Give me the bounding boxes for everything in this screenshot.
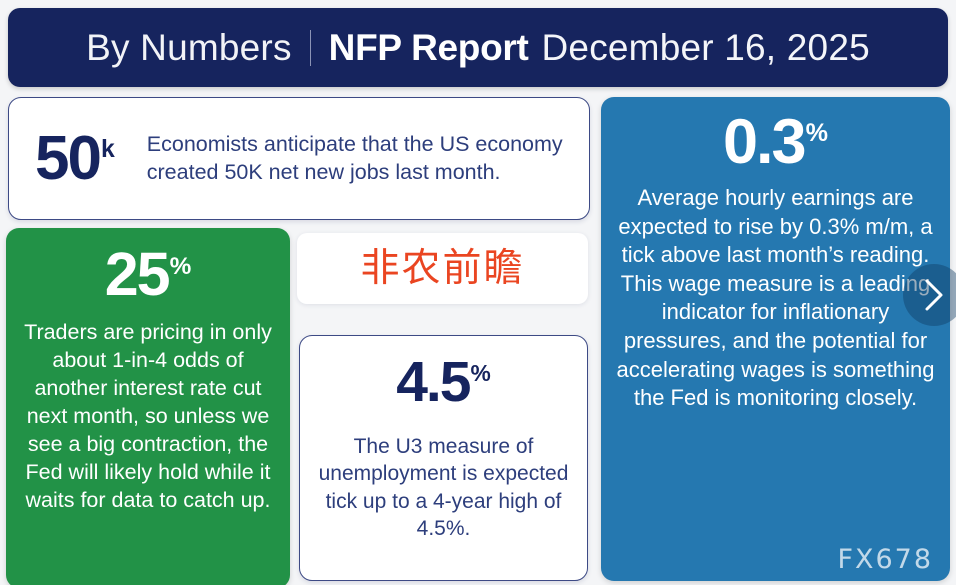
header-report-name: NFP Report (329, 27, 529, 69)
stat-card-earnings: 0.3% Average hourly earnings are expecte… (601, 97, 950, 581)
chevron-right-icon (921, 278, 947, 312)
watermark-logo: FX678 (837, 544, 933, 575)
stat-card-rate-cut-odds: 25% Traders are pricing in only about 1-… (6, 228, 290, 585)
header-banner: By Numbers NFP Report December 16, 2025 (8, 8, 948, 87)
headline-chinese-text: 非农前瞻 (360, 249, 524, 288)
stat-card-jobs: 50k Economists anticipate that the US ec… (8, 97, 590, 220)
stat-unit-earnings: % (806, 119, 828, 147)
header-divider (310, 30, 311, 66)
stat-value-jobs: 50k (35, 128, 115, 190)
header-by-numbers-label: By Numbers (86, 27, 292, 69)
stat-unit-rate-cut-odds: % (170, 253, 192, 280)
stat-description-unemployment: The U3 measure of unemployment is expect… (316, 433, 571, 542)
headline-card-chinese: 非农前瞻 (297, 233, 588, 304)
stat-number-rate-cut-odds: 25 (105, 240, 169, 308)
stat-value-earnings: 0.3% (723, 111, 828, 174)
stat-number-unemployment: 4.5 (396, 350, 469, 414)
stat-description-jobs: Economists anticipate that the US econom… (147, 131, 575, 187)
carousel-next-button[interactable] (903, 264, 956, 326)
stat-card-unemployment: 4.5% The U3 measure of unemployment is e… (299, 335, 588, 581)
header-date: December 16, 2025 (542, 27, 870, 69)
stat-number-jobs: 50 (35, 124, 100, 193)
stat-unit-unemployment: % (470, 360, 490, 386)
stat-unit-jobs: k (101, 136, 115, 163)
stat-value-rate-cut-odds: 25% (105, 244, 192, 305)
stat-value-unemployment: 4.5% (396, 354, 491, 411)
header-title-group: By Numbers NFP Report December 16, 2025 (86, 27, 870, 69)
stat-description-rate-cut-odds: Traders are pricing in only about 1-in-4… (16, 319, 280, 515)
stat-number-earnings: 0.3 (723, 107, 805, 177)
stat-description-earnings: Average hourly earnings are expected to … (613, 184, 938, 413)
